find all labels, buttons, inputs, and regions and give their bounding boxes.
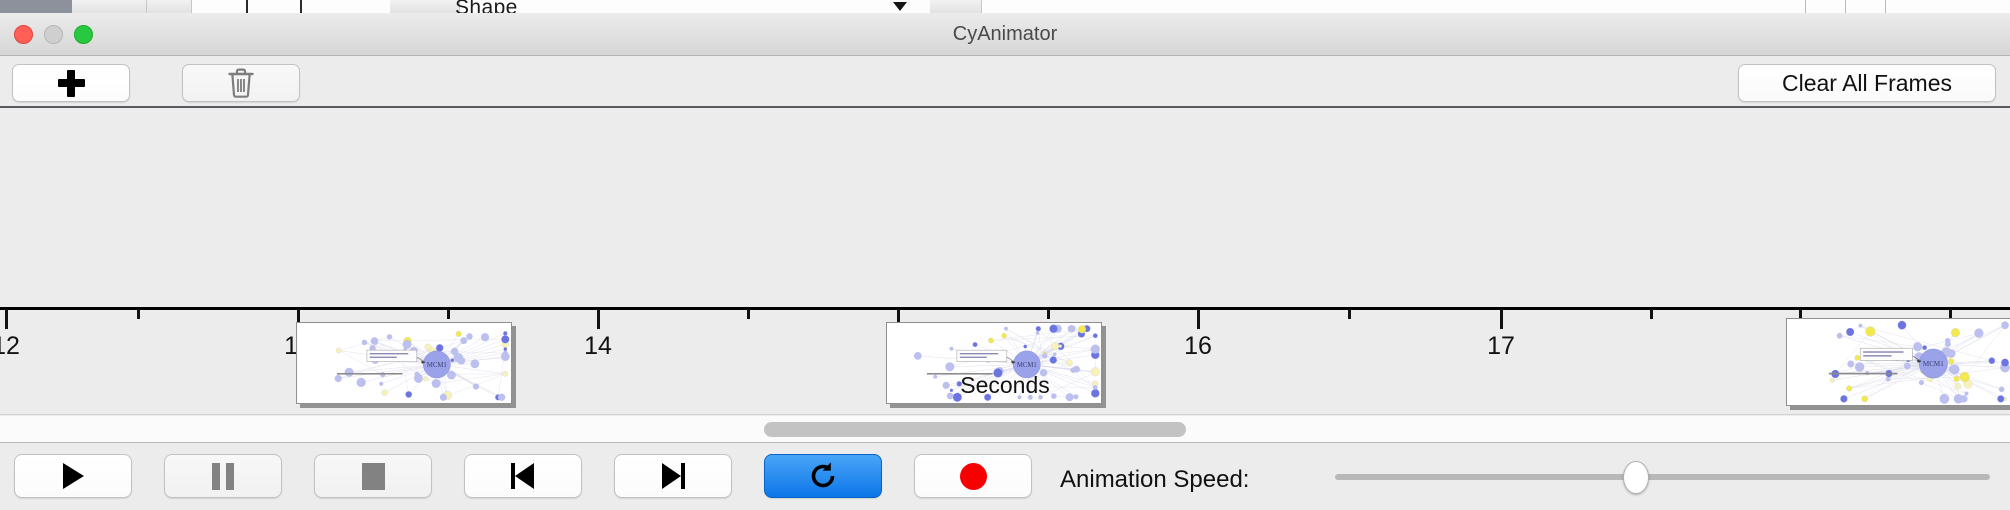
tick-major [1197, 309, 1200, 329]
plus-icon [58, 70, 85, 97]
stop-icon [362, 463, 385, 490]
tick-label: 16 [1184, 332, 1212, 361]
cyanimator-window: Shape CyAnimator Clear All Frames [0, 0, 2010, 510]
svg-text:MCM1: MCM1 [1923, 360, 1944, 368]
skip-back-icon [511, 463, 535, 489]
timeline-scrollbar[interactable] [0, 416, 2010, 443]
skip-fwd-icon [661, 463, 685, 489]
pause-icon [212, 463, 234, 490]
play-button[interactable] [14, 454, 132, 498]
add-frame-button[interactable] [12, 64, 130, 102]
delete-frame-button[interactable] [182, 64, 300, 102]
timeline-panel[interactable]: 12131415161718 MCM1MCM1MCM1 Seconds [0, 110, 2010, 415]
tick-minor [447, 309, 450, 319]
axis-title: Seconds [0, 372, 2010, 399]
stop-button[interactable] [314, 454, 432, 498]
title-bar: CyAnimator [0, 13, 2010, 56]
tick-minor [747, 309, 750, 319]
tick-minor [1047, 309, 1050, 319]
previous-button[interactable] [464, 454, 582, 498]
trash-icon [226, 67, 256, 99]
loop-button[interactable] [764, 454, 882, 498]
animation-speed-slider[interactable] [1335, 454, 1990, 498]
slider-knob[interactable] [1623, 461, 1649, 494]
record-button[interactable] [914, 454, 1032, 498]
tick-major [597, 309, 600, 329]
pause-button[interactable] [164, 454, 282, 498]
record-icon [960, 463, 987, 490]
background-window-strip: Shape [0, 0, 2010, 13]
next-button[interactable] [614, 454, 732, 498]
loop-icon [808, 461, 838, 491]
scrollbar-thumb[interactable] [764, 422, 1186, 437]
window-title: CyAnimator [0, 13, 2010, 56]
tick-label: 12 [0, 332, 20, 361]
svg-text:MCM1: MCM1 [427, 362, 447, 369]
tick-label: 17 [1487, 332, 1515, 361]
play-icon [63, 463, 84, 489]
tick-label: 14 [584, 332, 612, 361]
tick-major [1500, 309, 1503, 329]
frame-toolbar: Clear All Frames [0, 56, 2010, 108]
svg-text:MCM1: MCM1 [1017, 362, 1037, 369]
background-window-label: Shape [455, 0, 518, 13]
player-bar: Animation Speed: [0, 444, 2010, 510]
slider-track[interactable] [1335, 474, 1990, 480]
tick-major [5, 309, 8, 329]
clear-all-frames-button[interactable]: Clear All Frames [1738, 64, 1996, 102]
tick-minor [1650, 309, 1653, 319]
timeline-axis [0, 307, 2010, 310]
animation-speed-label: Animation Speed: [1060, 466, 1249, 494]
tick-minor [137, 309, 140, 319]
tick-minor [1348, 309, 1351, 319]
